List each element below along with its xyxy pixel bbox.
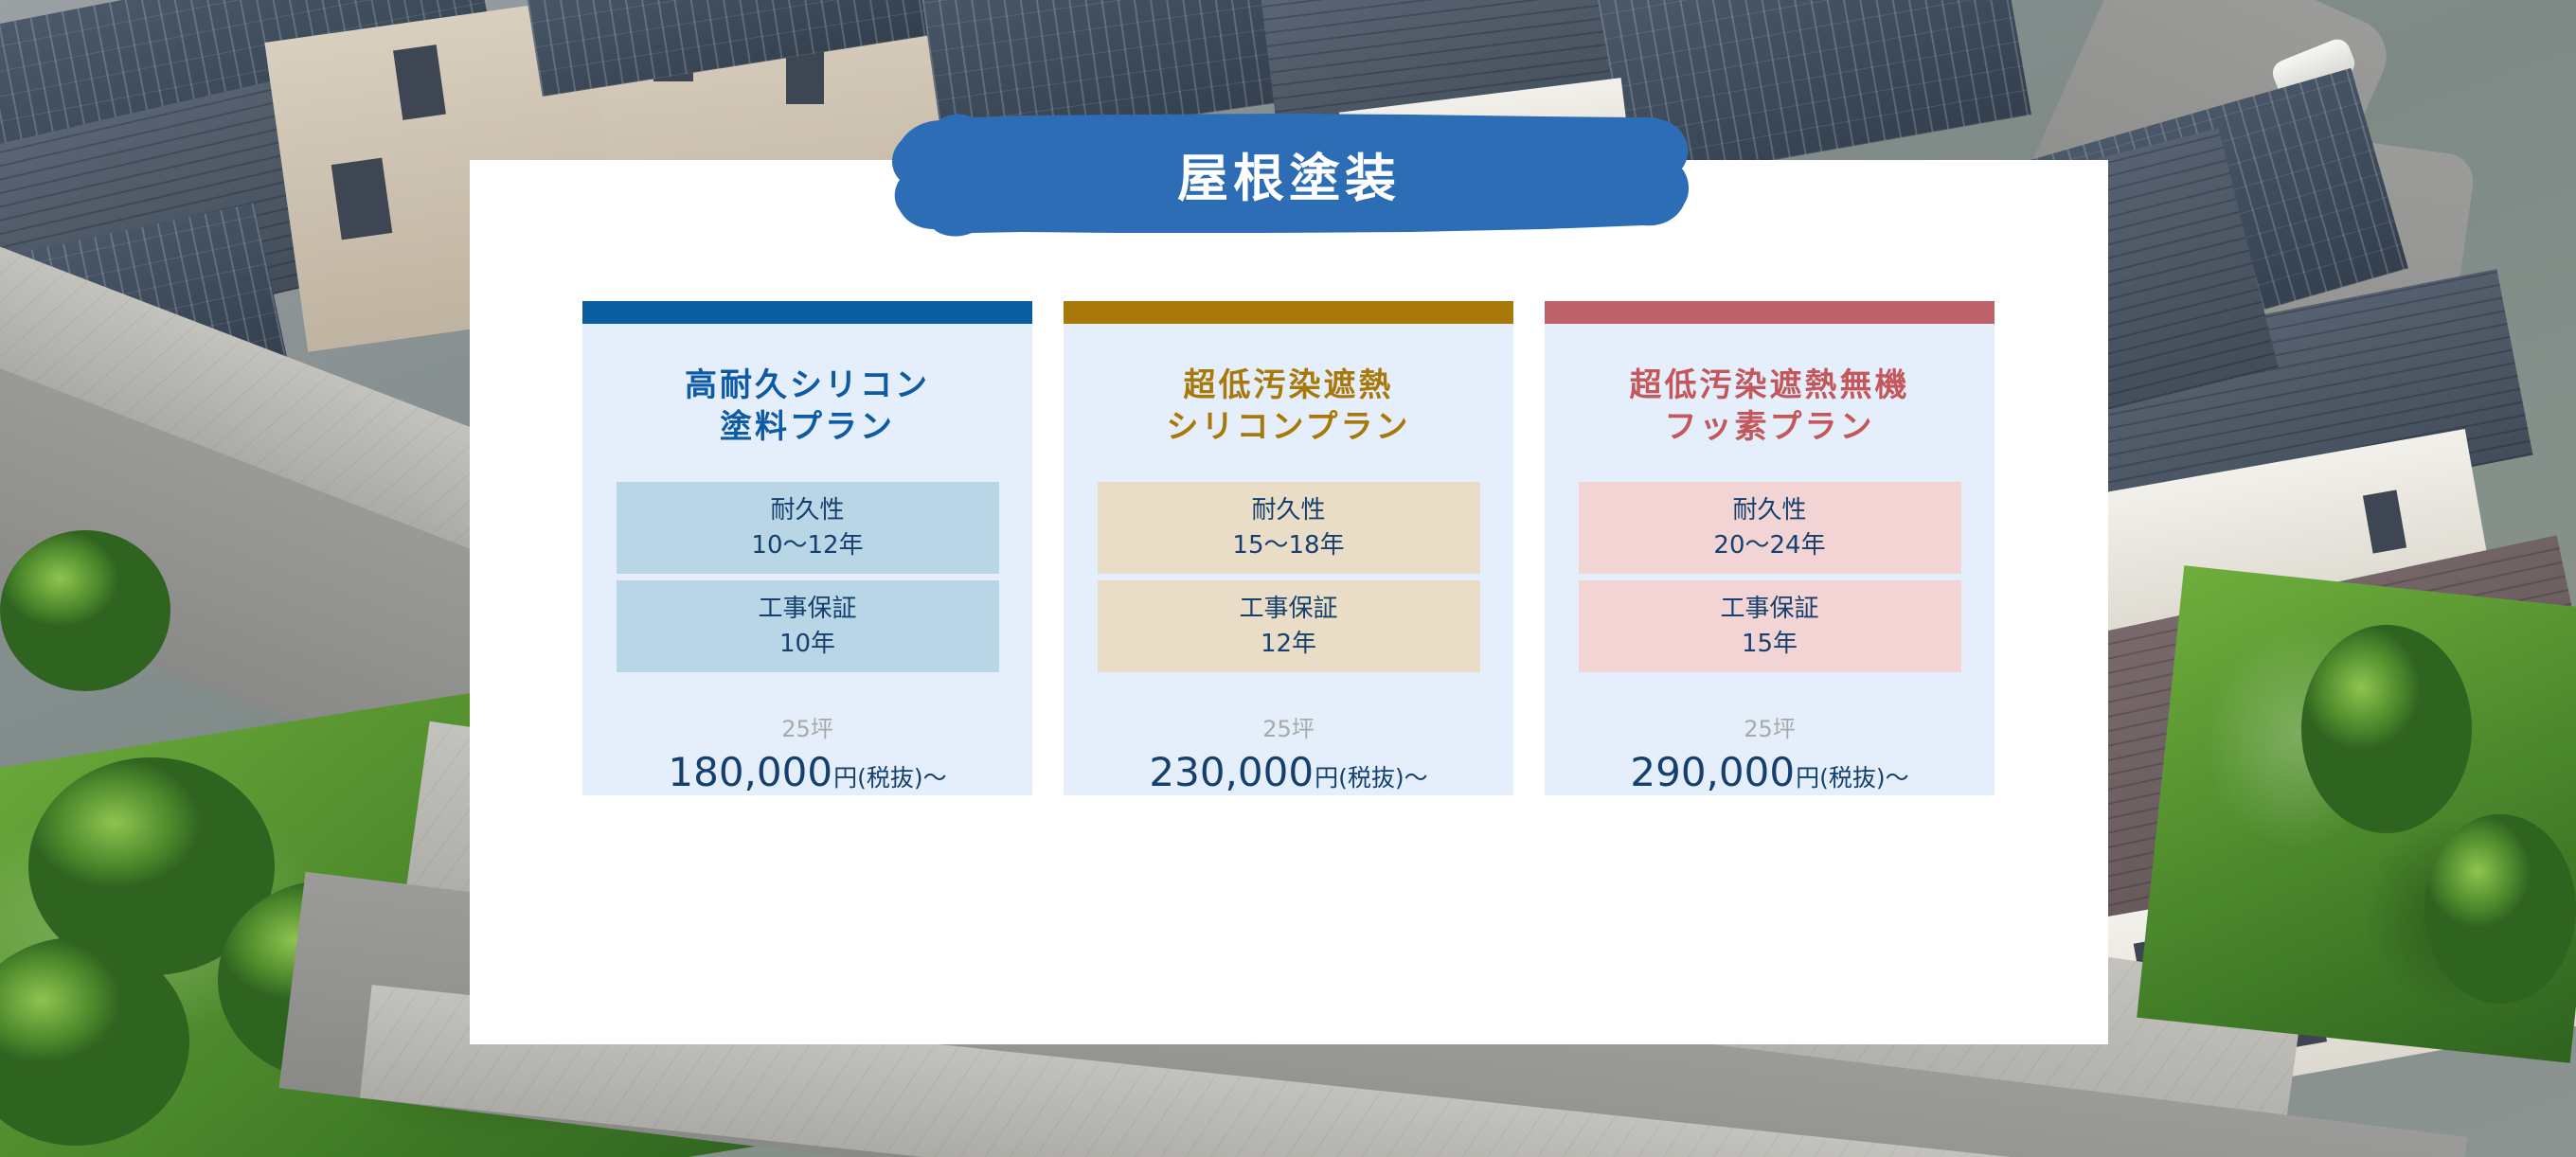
plan-card-2-spec-warranty: 工事保証 12年	[1098, 580, 1480, 672]
spec-label: 工事保証	[1720, 592, 1818, 627]
plan-card-1-spec-warranty: 工事保証 10年	[617, 580, 999, 672]
spec-value: 12年	[1261, 627, 1316, 662]
content-panel: 高耐久シリコン 塗料プラン 耐久性 10〜12年 工事保証 10年 25坪 18…	[470, 160, 2108, 1044]
spec-value: 10年	[779, 627, 835, 662]
spec-value: 15年	[1742, 627, 1798, 662]
section-title-banner: 屋根塗装	[881, 112, 1697, 242]
price-suffix: 円(税抜)〜	[1315, 759, 1428, 793]
price-amount: 180,000	[668, 749, 832, 795]
plan-card-3-title: 超低汚染遮熱無機 フッ素プラン	[1630, 365, 1910, 448]
tree-5	[0, 530, 170, 691]
price-unit: 25坪	[1149, 716, 1427, 743]
spec-label: 耐久性	[1732, 493, 1806, 528]
plan-card-3-specs: 耐久性 20〜24年 工事保証 15年	[1579, 482, 1961, 672]
plan-card-1-spec-durability: 耐久性 10〜12年	[617, 482, 999, 574]
spec-label: 工事保証	[1239, 592, 1337, 627]
tree-6	[2301, 625, 2472, 833]
plan-card-row: 高耐久シリコン 塗料プラン 耐久性 10〜12年 工事保証 10年 25坪 18…	[582, 301, 1995, 795]
plan-card-3-price: 25坪 290,000 円(税抜)〜	[1630, 716, 1908, 795]
price-suffix: 円(税抜)〜	[833, 759, 947, 793]
plan-card-2[interactable]: 超低汚染遮熱 シリコンプラン 耐久性 15〜18年 工事保証 12年 25坪 2…	[1064, 301, 1513, 795]
spec-value: 15〜18年	[1232, 528, 1344, 563]
plan-card-3[interactable]: 超低汚染遮熱無機 フッ素プラン 耐久性 20〜24年 工事保証 15年 25坪 …	[1545, 301, 1995, 795]
price-amount: 230,000	[1149, 749, 1314, 795]
spec-value: 20〜24年	[1713, 528, 1825, 563]
window-2	[331, 158, 393, 240]
plan-card-1-price: 25坪 180,000 円(税抜)〜	[668, 716, 946, 795]
price-amount: 290,000	[1630, 749, 1795, 795]
plan-card-2-spec-durability: 耐久性 15〜18年	[1098, 482, 1480, 574]
page-stage: 高耐久シリコン 塗料プラン 耐久性 10〜12年 工事保証 10年 25坪 18…	[0, 0, 2576, 1157]
plan-card-1[interactable]: 高耐久シリコン 塗料プラン 耐久性 10〜12年 工事保証 10年 25坪 18…	[582, 301, 1032, 795]
spec-label: 工事保証	[758, 592, 856, 627]
plan-card-2-price: 25坪 230,000 円(税抜)〜	[1149, 716, 1427, 795]
price-line: 230,000 円(税抜)〜	[1149, 749, 1427, 795]
tree-7	[2424, 814, 2576, 1004]
price-unit: 25坪	[668, 716, 946, 743]
spec-label: 耐久性	[770, 493, 844, 528]
plan-card-3-spec-warranty: 工事保証 15年	[1579, 580, 1961, 672]
plan-card-2-specs: 耐久性 15〜18年 工事保証 12年	[1098, 482, 1480, 672]
plan-card-1-title: 高耐久シリコン 塗料プラン	[685, 365, 930, 448]
price-suffix: 円(税抜)〜	[1796, 759, 1909, 793]
plan-card-2-title: 超低汚染遮熱 シリコンプラン	[1167, 365, 1411, 448]
price-line: 180,000 円(税抜)〜	[668, 749, 946, 795]
section-title-text: 屋根塗装	[881, 112, 1697, 242]
plan-card-3-topbar	[1545, 301, 1995, 324]
price-line: 290,000 円(税抜)〜	[1630, 749, 1908, 795]
plan-card-2-topbar	[1064, 301, 1513, 324]
spec-value: 10〜12年	[751, 528, 863, 563]
plan-card-3-spec-durability: 耐久性 20〜24年	[1579, 482, 1961, 574]
spec-label: 耐久性	[1251, 493, 1325, 528]
plan-card-1-specs: 耐久性 10〜12年 工事保証 10年	[617, 482, 999, 672]
price-unit: 25坪	[1630, 716, 1908, 743]
plan-card-1-topbar	[582, 301, 1032, 324]
